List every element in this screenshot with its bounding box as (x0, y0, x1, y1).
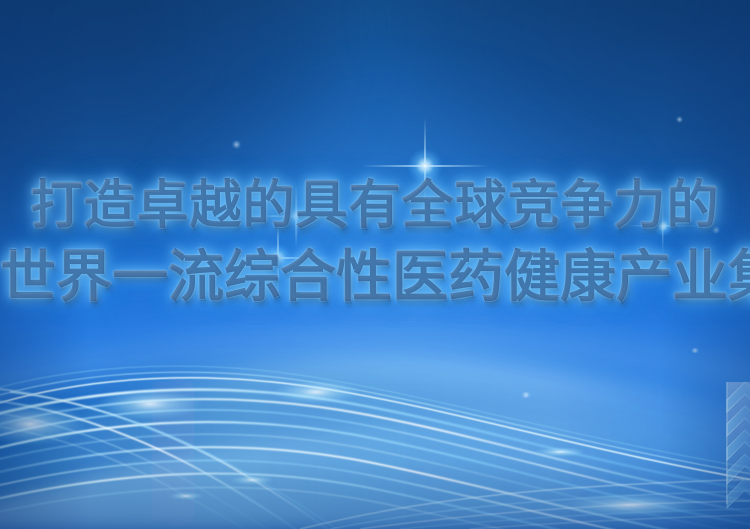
lower-band-glow (0, 300, 750, 490)
vignette-left (0, 0, 90, 529)
vignette-right (660, 0, 750, 529)
vignette-bottom (0, 459, 750, 529)
light-flare-2 (223, 203, 333, 313)
wave-mist-layer (0, 0, 750, 529)
headline-line-2: 世界一流综合性医药健康产业集团 (0, 250, 750, 306)
headline-line-1-shadow: 打造卓越的具有全球竞争力的 (0, 180, 750, 232)
light-flare-3 (251, 171, 341, 261)
light-flare-1 (360, 101, 490, 231)
headline-line-1: 打造卓越的具有全球竞争力的 (0, 180, 750, 232)
speck-5 (690, 348, 700, 353)
corner-glow-top-right (390, 0, 750, 240)
chevron-stack-graphic (0, 0, 750, 529)
corner-glow-top-left (0, 0, 360, 250)
promotional-banner: 打造卓越的具有全球竞争力的 打造卓越的具有全球竞争力的 世界一流综合性医药健康产… (0, 0, 750, 529)
center-glow (120, 60, 680, 480)
headline-line-2-text: 世界一流综合性医药健康产业集团 (0, 250, 750, 306)
speck-2 (676, 116, 683, 123)
headline-line-2-shadow: 世界一流综合性医药健康产业集团 (0, 250, 750, 306)
speck-4 (520, 392, 532, 398)
flowing-light-streaks (0, 0, 750, 529)
chevron-group (726, 382, 750, 508)
speck-3 (712, 226, 720, 234)
speck-1 (232, 140, 241, 149)
light-flare-4 (623, 186, 703, 266)
headline-line-1-text: 打造卓越的具有全球竞争力的 (30, 180, 719, 232)
